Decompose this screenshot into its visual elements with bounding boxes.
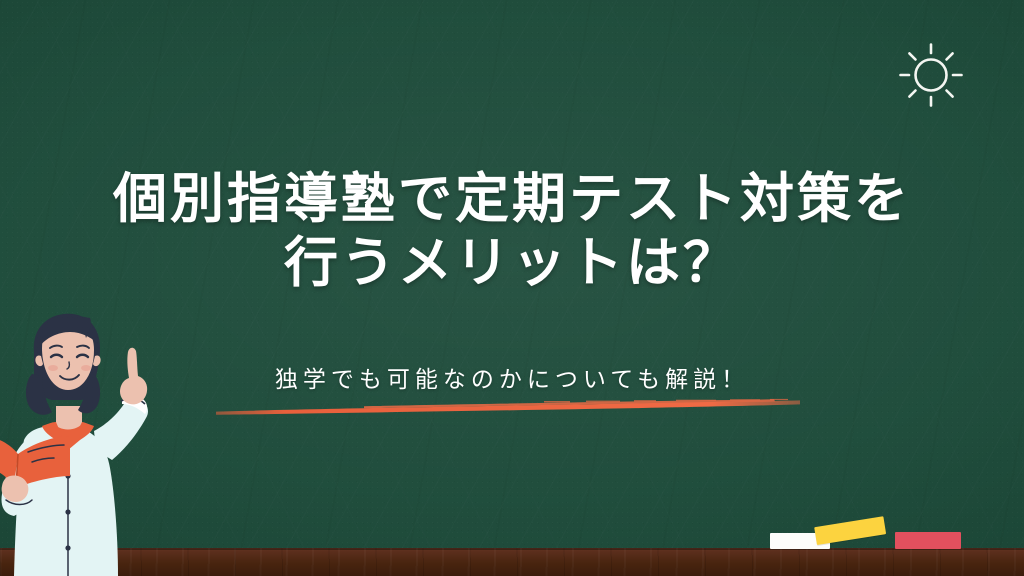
page-subtitle: 独学でも可能なのかについても解説！ xyxy=(275,360,749,394)
sun-doodle-icon xyxy=(896,40,966,110)
teacher-illustration xyxy=(0,300,184,576)
chalk-red xyxy=(895,532,961,549)
brush-underline xyxy=(214,396,802,416)
slide-canvas: 個別指導塾で定期テスト対策を 行うメリットは？ 独学でも可能なのかについても解説… xyxy=(0,0,1024,576)
page-title: 個別指導塾で定期テスト対策を 行うメリットは？ xyxy=(0,168,1024,295)
